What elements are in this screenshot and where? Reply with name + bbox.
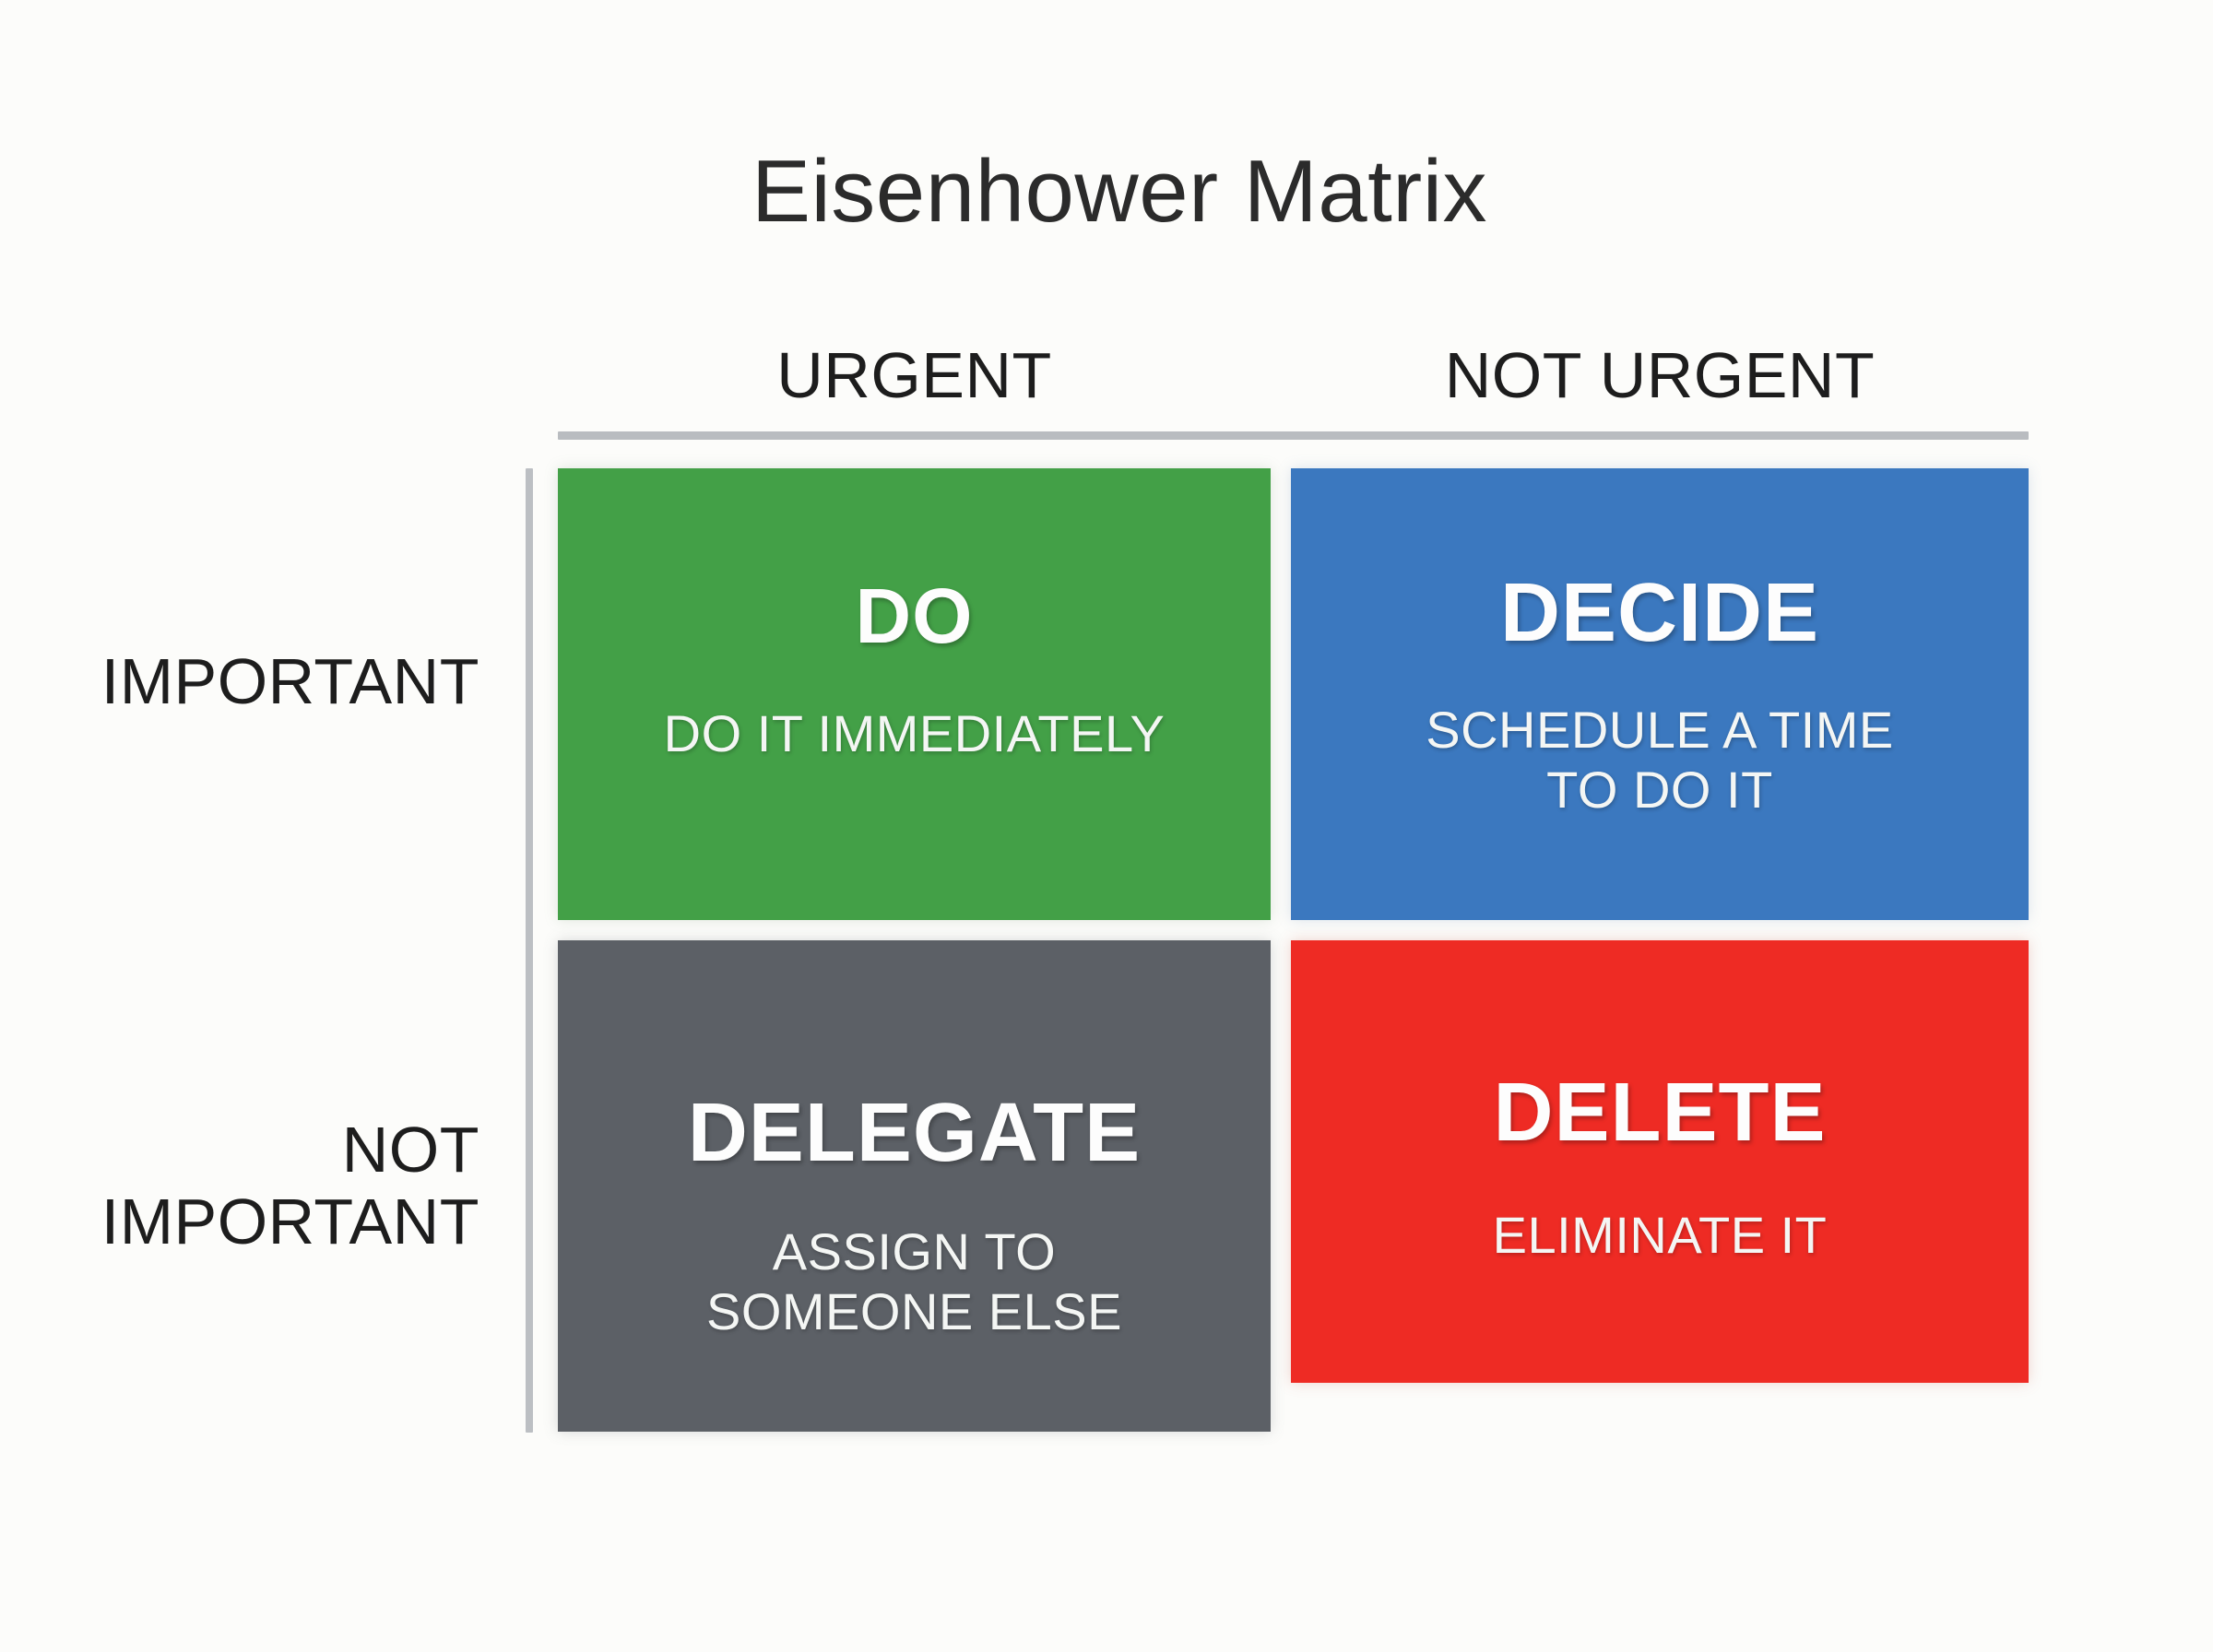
quadrant-decide[interactable]: DECIDE SCHEDULE A TIME TO DO IT	[1291, 468, 2029, 920]
quadrant-decide-title: DECIDE	[1500, 572, 1819, 655]
quadrant-do-subtitle: DO IT IMMEDIATELY	[664, 704, 1166, 764]
row-label-not-important: NOT IMPORTANT	[101, 1114, 479, 1258]
column-header-urgent: URGENT	[558, 343, 1271, 407]
quadrant-delegate-title: DELEGATE	[688, 1091, 1141, 1174]
column-header-not-urgent: NOT URGENT	[1291, 343, 2029, 407]
row-label-important: IMPORTANT	[101, 645, 479, 717]
eisenhower-matrix-diagram: Eisenhower Matrix URGENT NOT URGENT IMPO…	[0, 0, 2213, 1652]
quadrant-decide-subtitle: SCHEDULE A TIME TO DO IT	[1426, 701, 1894, 820]
quadrant-delete-subtitle: ELIMINATE IT	[1493, 1206, 1828, 1266]
quadrant-delegate[interactable]: DELEGATE ASSIGN TO SOMEONE ELSE	[558, 940, 1271, 1432]
quadrant-delegate-subtitle: ASSIGN TO SOMEONE ELSE	[706, 1222, 1122, 1342]
page-title: Eisenhower Matrix	[13, 147, 2213, 236]
horizontal-axis-line	[558, 431, 2029, 440]
quadrant-delete-title: DELETE	[1493, 1071, 1826, 1154]
quadrant-do[interactable]: DO DO IT IMMEDIATELY	[558, 468, 1271, 920]
vertical-axis-line	[526, 468, 533, 1433]
quadrant-do-title: DO	[856, 577, 974, 655]
quadrant-delete[interactable]: DELETE ELIMINATE IT	[1291, 940, 2029, 1383]
